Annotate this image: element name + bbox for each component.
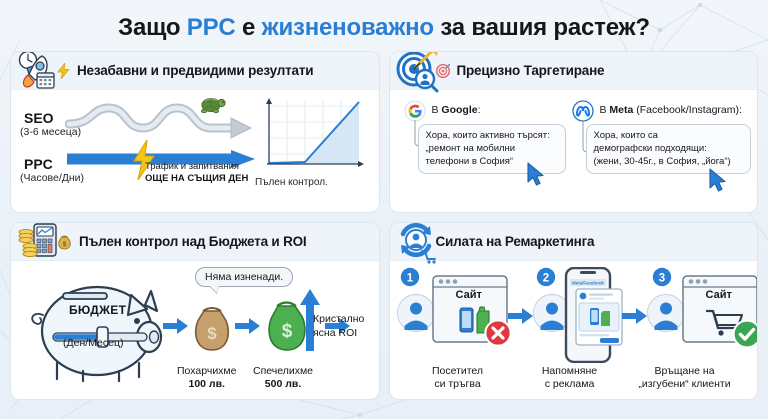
remarketing-cycle-icon — [394, 222, 440, 264]
panel-header-precise-targeting: Прецизно Таргетиране — [390, 52, 758, 90]
calculator-coins-icon — [15, 222, 61, 264]
mouse-cursor-icon — [526, 162, 548, 188]
svg-text:$: $ — [282, 321, 293, 342]
budget-word: БЮДЖЕТ — [69, 303, 126, 317]
svg-text:3: 3 — [658, 272, 664, 284]
page-title: Защо PPC е жизненоважно за вашия растеж? — [10, 0, 758, 51]
green-check-icon — [732, 319, 759, 349]
ppc-sublabel: (Часове/Дни) — [20, 172, 84, 184]
budget-sublabel: (Ден/Месец) — [63, 337, 123, 349]
roi-text: Кристално ясна ROI — [313, 313, 364, 340]
title-part-3: за вашия растеж? — [434, 14, 650, 41]
panel-heading-budget-control: Пълен контрол над Бюджета и ROI — [79, 234, 306, 249]
seo-label: SEO — [24, 110, 54, 126]
title-highlight-vital: жизненоважно — [262, 14, 434, 41]
mouse-cursor-icon — [708, 168, 730, 194]
flow-arrow-1 — [163, 317, 189, 335]
user-avatar-icon — [396, 293, 436, 333]
chart-caption: Пълен контрол. — [255, 177, 328, 188]
arrow-step-2-to-3 — [622, 307, 648, 325]
panel-header-remarketing: Силата на Ремаркетинга — [390, 223, 758, 261]
user-avatar-icon — [646, 293, 686, 333]
title-part-1: Защо — [118, 14, 187, 41]
panel-heading-instant-results: Незабавни и предвидими резултати — [77, 63, 313, 78]
spent-label: Похарчихме — [177, 365, 237, 377]
panel-body-remarketing: 1 Сайт — [390, 261, 758, 399]
site-word-step3: Сайт — [706, 289, 732, 301]
panel-remarketing: Силата на Ремаркетинга 1 — [389, 222, 759, 400]
panel-heading-remarketing: Силата на Ремаркетинга — [436, 234, 595, 249]
step-3-badge: 3 — [652, 267, 672, 287]
title-highlight-ppc: PPC — [187, 14, 236, 41]
traffic-text: Трафик и запитвания ОЩЕ НА СЪЩИЯ ДЕН — [145, 161, 248, 184]
earned-value: 500 лв. — [253, 378, 313, 391]
arrow-step-1-to-2 — [508, 307, 534, 325]
target-magnifier-icon — [394, 51, 440, 93]
panel-grid: Незабавни и предвидими резултати SEO (3-… — [10, 51, 758, 400]
step-1-badge: 1 — [400, 267, 420, 287]
svg-text:Meta/Facebook: Meta/Facebook — [572, 281, 604, 286]
meta-prefix: В — [600, 104, 610, 116]
panel-header-budget-control: $ Пълен контрол над Бюджета и ROI — [11, 223, 379, 261]
google-logo-icon — [404, 100, 426, 122]
meta-brand: Meta — [609, 104, 633, 116]
title-part-2: е — [236, 14, 262, 41]
infographic-page: Защо PPC е жизненоважно за вашия растеж? — [0, 0, 768, 419]
turtle-icon — [197, 93, 227, 113]
meta-logo-icon — [572, 100, 594, 122]
traffic-line-1: Трафик и запитвания — [145, 161, 248, 173]
seo-winding-arrow — [65, 98, 265, 146]
svg-text:2: 2 — [542, 272, 548, 284]
panel-header-instant-results: Незабавни и предвидими резултати — [11, 52, 379, 90]
no-surprises-bubble: Няма изненади. — [195, 267, 293, 287]
panel-body-instant-results: SEO (3-6 месеца) PPC (Часове/Дни) — [11, 90, 379, 212]
step-3-caption: Връщане на „изгубени“ клиенти — [625, 365, 745, 392]
svg-text:$: $ — [63, 241, 67, 248]
google-suffix: : — [478, 104, 481, 116]
flow-arrow-2 — [235, 317, 261, 335]
spent-money-bag-icon: $ — [191, 303, 233, 353]
ppc-label: PPC — [24, 156, 53, 172]
panel-body-budget-control: БЮДЖЕТ (Ден/Месец) Няма изненади. $ — [11, 261, 379, 399]
meta-source-row: В Meta (Facebook/Instagram): — [600, 104, 742, 116]
panel-body-precise-targeting: В Google: Хора, които активно търсят: „р… — [390, 90, 758, 212]
traffic-line-2: ОЩЕ НА СЪЩИЯ ДЕН — [145, 173, 248, 184]
growth-chart — [255, 96, 367, 178]
earned-caption: Спечелихме 500 лв. — [253, 365, 313, 391]
smartphone-ad-icon: Meta/Facebook — [562, 267, 624, 363]
google-prefix: В — [432, 104, 442, 116]
meta-suffix: (Facebook/Instagram): — [633, 104, 742, 116]
rocket-clock-calendar-icon — [15, 51, 61, 93]
step-2-badge: 2 — [536, 267, 556, 287]
panel-heading-precise-targeting: Прецизно Таргетиране — [457, 63, 605, 78]
site-word-step1: Сайт — [456, 289, 482, 301]
step-2-caption: Напомняне с реклама — [510, 365, 630, 392]
piggy-bank-icon — [27, 275, 179, 387]
meta-callout: Хора, които са демографски подходящи: (ж… — [586, 124, 751, 174]
step-1-caption: Посетител си тръгва — [398, 365, 518, 392]
spent-caption: Похарчихме 100 лв. — [177, 365, 237, 391]
google-source-row: В Google: — [432, 104, 481, 116]
spent-value: 100 лв. — [177, 378, 237, 391]
google-brand: Google — [441, 104, 477, 116]
panel-precise-targeting: Прецизно Таргетиране В Google: Хора, кои… — [389, 51, 759, 213]
svg-text:$: $ — [207, 324, 217, 343]
earned-label: Спечелихме — [253, 365, 313, 377]
panel-instant-results: Незабавни и предвидими резултати SEO (3-… — [10, 51, 380, 213]
svg-text:1: 1 — [406, 272, 413, 284]
panel-budget-control: $ Пълен контрол над Бюджета и ROI — [10, 222, 380, 400]
